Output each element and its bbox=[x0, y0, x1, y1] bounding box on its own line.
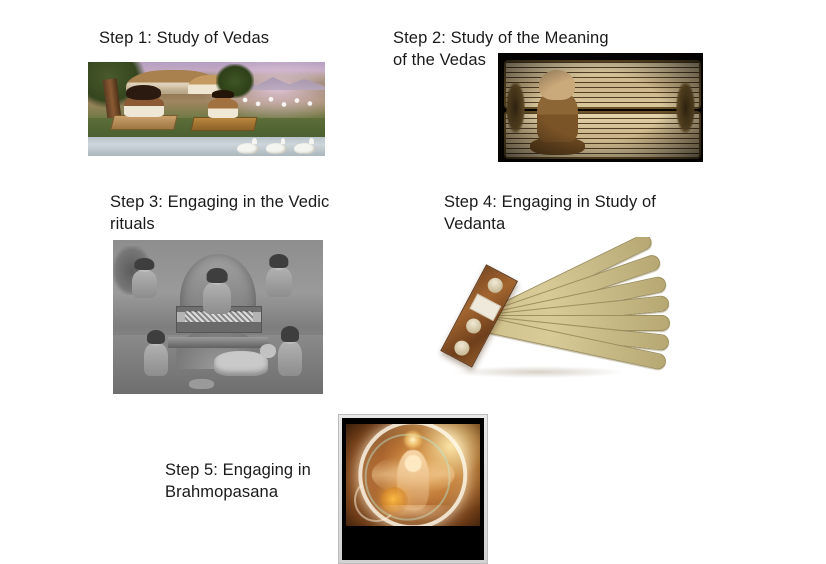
swan bbox=[294, 143, 315, 154]
step-1-label: Step 1: Study of Vedas bbox=[99, 28, 379, 50]
figure-hair bbox=[281, 326, 299, 342]
student-body bbox=[208, 99, 239, 118]
guru-teaching-student-painting bbox=[88, 62, 325, 156]
figure-body bbox=[144, 343, 168, 375]
vedic-ritual-illustration bbox=[113, 240, 323, 394]
ancient-manuscript-with-sage bbox=[498, 53, 703, 162]
figure-hair bbox=[269, 254, 288, 268]
sage-figure bbox=[124, 87, 164, 123]
distant-flock bbox=[237, 96, 318, 109]
figure-top-left bbox=[130, 260, 159, 300]
figure-top-right bbox=[264, 257, 293, 300]
priest-figure-center bbox=[201, 271, 233, 317]
figure-hair bbox=[207, 268, 228, 283]
figure-bottom-left bbox=[142, 332, 169, 378]
figure-body bbox=[132, 270, 158, 298]
vignette-overlay bbox=[498, 53, 703, 162]
dog bbox=[189, 379, 214, 390]
figure-body bbox=[266, 267, 292, 297]
cover-label-band bbox=[469, 293, 501, 321]
drop-shadow bbox=[452, 366, 624, 378]
altar-plinth bbox=[168, 337, 269, 348]
cover-disc bbox=[463, 316, 484, 337]
frame-inner-matte bbox=[342, 418, 484, 560]
cover-disc bbox=[485, 275, 506, 296]
student-hair bbox=[212, 90, 235, 98]
figure-hair bbox=[147, 330, 165, 345]
step-4-label: Step 4: Engaging in Study of Vedanta bbox=[444, 192, 694, 236]
cow bbox=[214, 351, 269, 376]
meditation-image-frame bbox=[338, 414, 488, 564]
figure-bottom-right bbox=[277, 329, 304, 378]
base-glow bbox=[376, 505, 453, 521]
palm-leaf-manuscript-book bbox=[437, 237, 682, 384]
figure-body bbox=[203, 282, 231, 314]
student-figure bbox=[207, 91, 240, 123]
palm-leaf-fan bbox=[457, 258, 673, 373]
cover-disc bbox=[452, 338, 473, 359]
figure-body bbox=[278, 341, 302, 375]
river-water bbox=[88, 137, 325, 156]
sage-body bbox=[124, 97, 164, 117]
swan bbox=[237, 143, 258, 154]
slide-canvas: Step 1: Study of Vedas Step 2: Study of … bbox=[0, 0, 826, 564]
swan bbox=[266, 143, 287, 154]
step-3-label: Step 3: Engaging in the Vedic rituals bbox=[110, 192, 360, 236]
sage-hair bbox=[126, 85, 161, 99]
meditation-aura-image bbox=[346, 424, 479, 526]
figure-hair bbox=[135, 258, 154, 271]
